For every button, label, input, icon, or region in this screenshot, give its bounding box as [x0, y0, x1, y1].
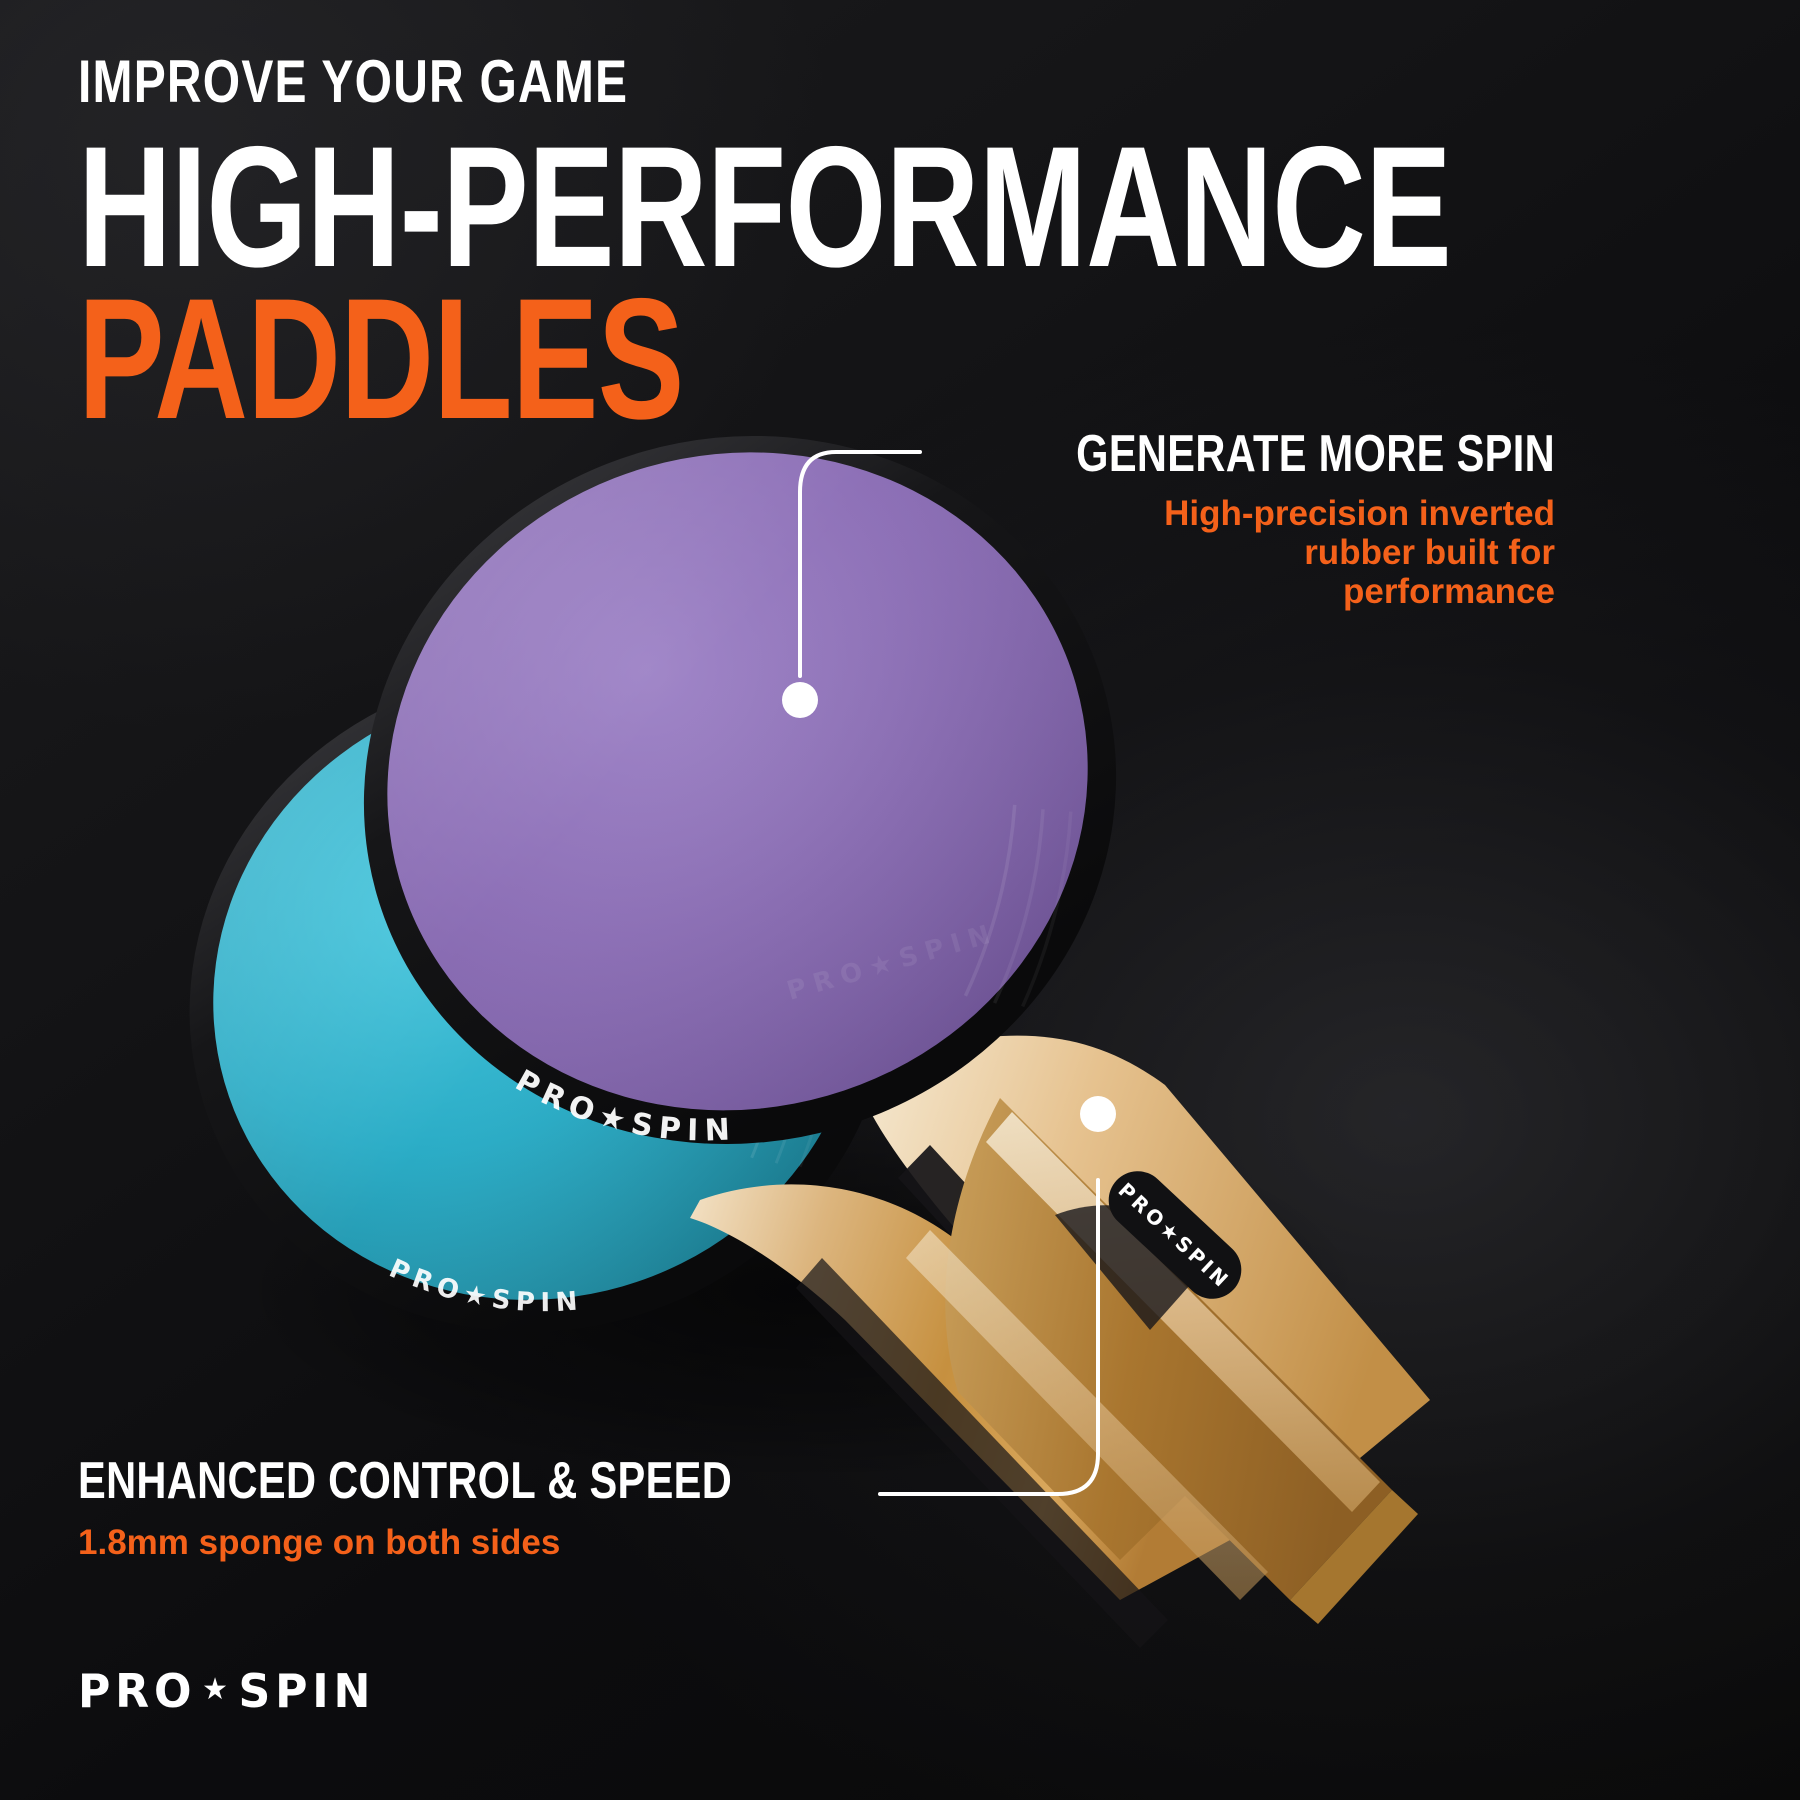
callout-spin-body: High-precision inverted rubber built for… — [935, 494, 1555, 612]
callout-control-body: 1.8mm sponge on both sides — [78, 1523, 978, 1562]
page-subtitle: PADDLES — [78, 286, 1195, 434]
page-title: HIGH-PERFORMANCE — [78, 134, 1195, 282]
headline-block: IMPROVE YOUR GAME HIGH-PERFORMANCE PADDL… — [78, 52, 1558, 434]
star-icon: ★ — [202, 1672, 233, 1707]
callout-generate-more-spin: GENERATE MORE SPIN High-precision invert… — [935, 428, 1555, 612]
poster-canvas: PRO★SPIN PRO★SPIN — [0, 0, 1800, 1800]
brand-logo-spin: SPIN — [238, 1664, 375, 1718]
brand-logo-pro: PRO — [78, 1664, 196, 1718]
callout-spin-body-line1: High-precision inverted — [935, 494, 1555, 533]
callout-spin-body-line3: performance — [935, 572, 1555, 611]
eyebrow-text: IMPROVE YOUR GAME — [78, 52, 1262, 112]
callout-spin-body-line2: rubber built for — [935, 533, 1555, 572]
callout-control-title: ENHANCED CONTROL & SPEED — [78, 1455, 798, 1507]
callout-enhanced-control-speed: ENHANCED CONTROL & SPEED 1.8mm sponge on… — [78, 1455, 978, 1562]
callout-spin-title: GENERATE MORE SPIN — [1059, 428, 1555, 480]
callout-control-body-line1: 1.8mm sponge on both sides — [78, 1523, 978, 1562]
brand-logo: PRO ★ SPIN — [78, 1664, 375, 1718]
